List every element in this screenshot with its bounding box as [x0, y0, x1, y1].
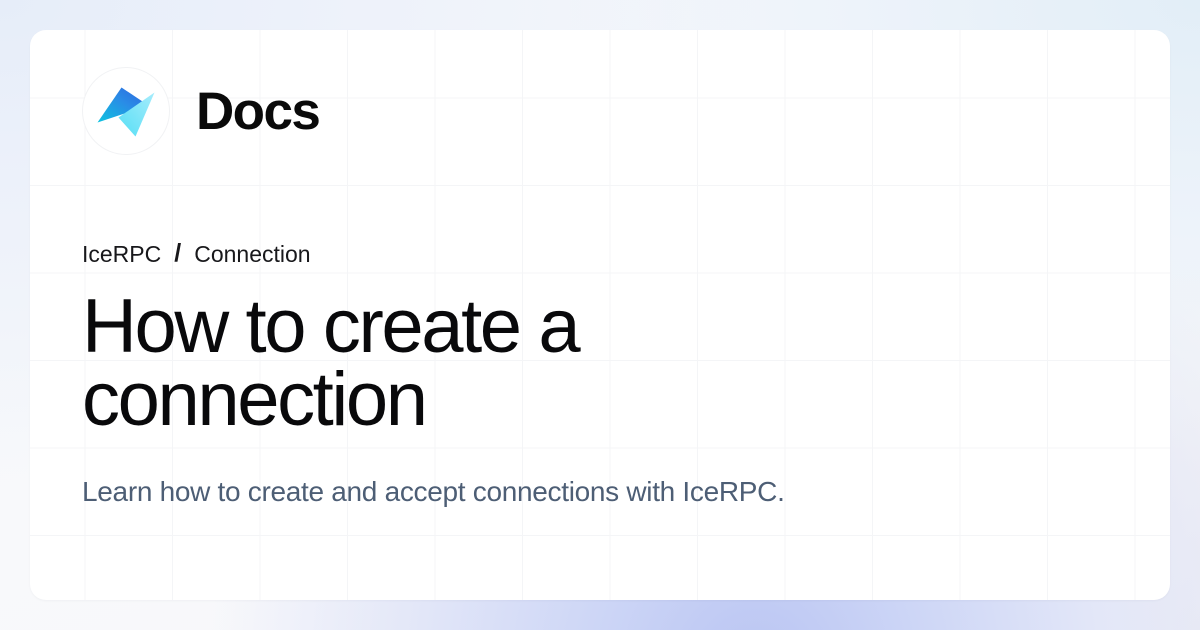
- page-title: How to create a connection: [82, 291, 782, 437]
- brand-title: Docs: [196, 85, 319, 138]
- page-description: Learn how to create and accept connectio…: [82, 471, 842, 512]
- breadcrumb-item-connection[interactable]: Connection: [194, 243, 310, 266]
- breadcrumb-item-icerpc[interactable]: IceRPC: [82, 243, 161, 266]
- breadcrumb: IceRPC / Connection: [82, 242, 1118, 267]
- brand-row: Docs: [82, 52, 1118, 170]
- og-card: Docs IceRPC / Connection How to create a…: [30, 30, 1170, 600]
- icerpc-arrow-logo-icon: [96, 82, 156, 140]
- card-content: Docs IceRPC / Connection How to create a…: [30, 30, 1170, 600]
- breadcrumb-separator-icon: /: [174, 241, 181, 266]
- logo-badge: [82, 67, 170, 155]
